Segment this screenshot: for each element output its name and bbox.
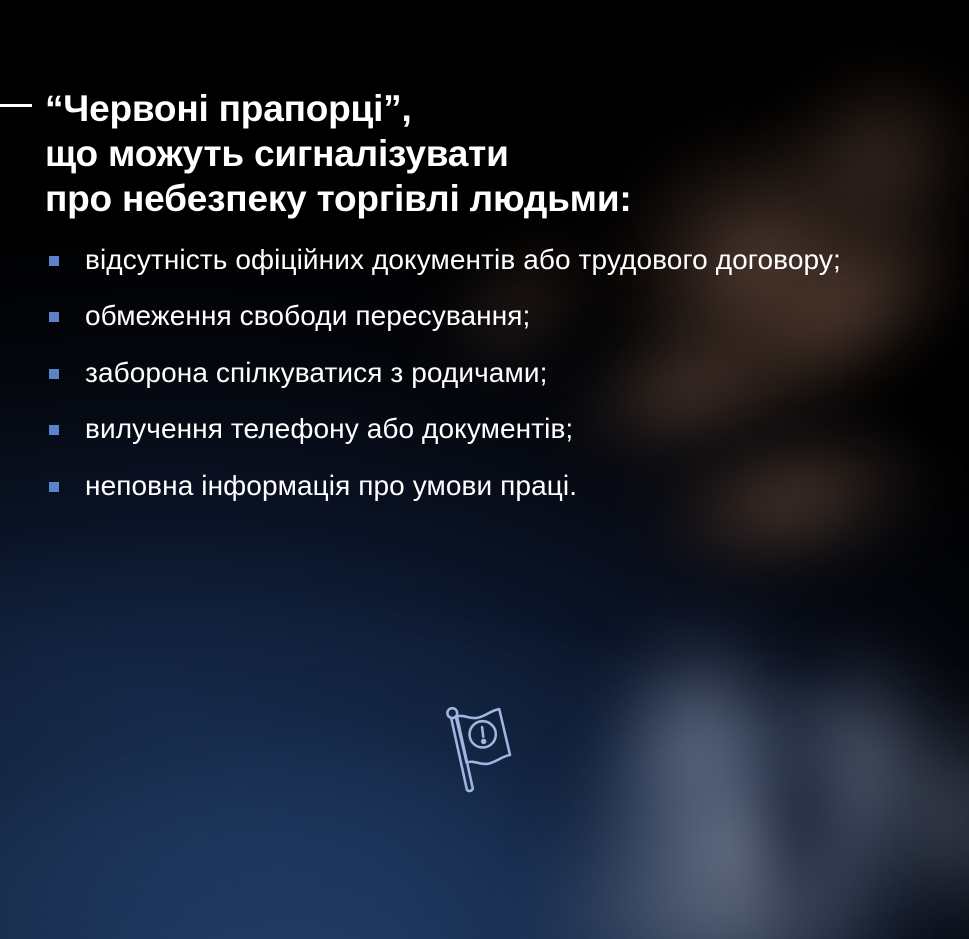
list-item: відсутність офіційних документів або тру… [40, 243, 945, 277]
red-flags-list: відсутність офіційних документів або тру… [40, 243, 945, 525]
list-item-label: заборона спілкуватися з родичами; [85, 357, 547, 388]
title-accent-rule [0, 104, 32, 107]
bullet-square-icon [49, 369, 59, 379]
list-item: заборона спілкуватися з родичами; [40, 356, 945, 390]
bullet-square-icon [49, 312, 59, 322]
list-item-label: вилучення телефону або документів; [85, 413, 573, 444]
poster-canvas: “Червоні прапорці”, що можуть сигналізув… [0, 0, 969, 939]
bullet-square-icon [49, 425, 59, 435]
warning-flag-icon [437, 702, 535, 800]
list-item: обмеження свободи пересування; [40, 299, 945, 333]
page-title: “Червоні прапорці”, що можуть сигналізув… [45, 86, 905, 221]
list-item: неповна інформація про умови праці. [40, 469, 945, 503]
list-item-label: неповна інформація про умови праці. [85, 470, 577, 501]
bullet-square-icon [49, 482, 59, 492]
list-item-label: обмеження свободи пересування; [85, 300, 530, 331]
list-item-label: відсутність офіційних документів або тру… [85, 244, 841, 275]
poster-content: “Червоні прапорці”, що можуть сигналізув… [0, 0, 969, 939]
bullet-square-icon [49, 256, 59, 266]
list-item: вилучення телефону або документів; [40, 412, 945, 446]
